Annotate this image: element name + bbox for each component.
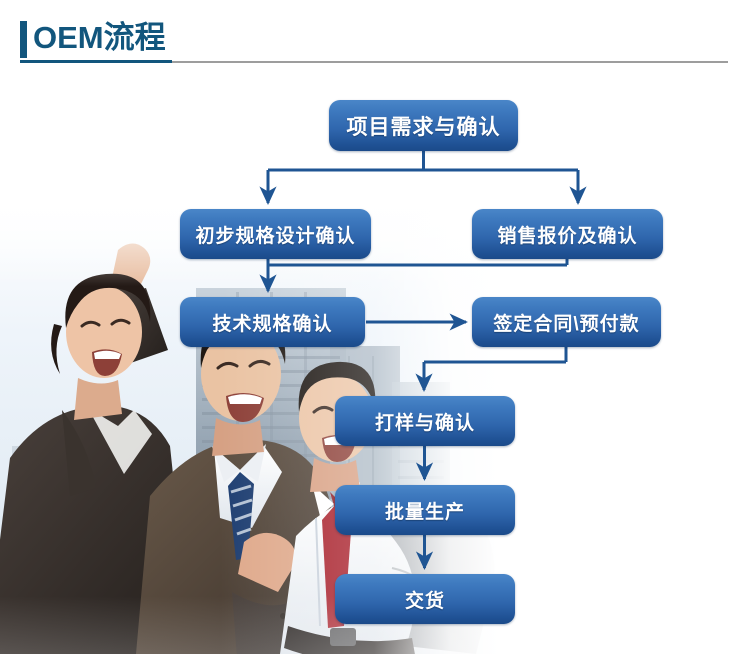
flow-node-label: 批量生产: [385, 497, 465, 524]
flow-node-technical-spec-confirmation[interactable]: 技术规格确认: [180, 297, 365, 347]
header-rule-gray: [172, 61, 728, 63]
flow-node-mass-production[interactable]: 批量生产: [335, 485, 515, 535]
flow-node-delivery[interactable]: 交货: [335, 574, 515, 624]
flow-node-label: 打样与确认: [375, 408, 475, 435]
flow-node-label: 销售报价及确认: [497, 221, 637, 248]
flow-node-sales-quotation-confirmation[interactable]: 销售报价及确认: [472, 209, 663, 259]
flow-node-project-requirement-confirmation[interactable]: 项目需求与确认: [329, 100, 518, 151]
flow-node-label: 技术规格确认: [212, 309, 332, 336]
flow-node-label: 项目需求与确认: [347, 111, 501, 141]
flow-node-sign-contract-prepayment[interactable]: 签定合同\预付款: [472, 297, 661, 347]
page-header: OEM流程: [0, 0, 750, 80]
oem-flowchart: 项目需求与确认 初步规格设计确认 销售报价及确认 技术规格确认 签定合同\预付款…: [0, 0, 750, 654]
flow-node-label: 初步规格设计确认: [195, 221, 355, 248]
flow-node-label: 交货: [405, 586, 445, 613]
flow-node-label: 签定合同\预付款: [493, 309, 639, 336]
title-accent-bar: [20, 21, 27, 58]
oem-process-page: OEM流程: [0, 0, 750, 654]
page-title: OEM流程: [33, 17, 166, 59]
flow-node-sampling-confirmation[interactable]: 打样与确认: [335, 396, 515, 446]
header-rule-blue: [20, 60, 172, 63]
flow-node-preliminary-spec-design-confirmation[interactable]: 初步规格设计确认: [180, 209, 371, 259]
